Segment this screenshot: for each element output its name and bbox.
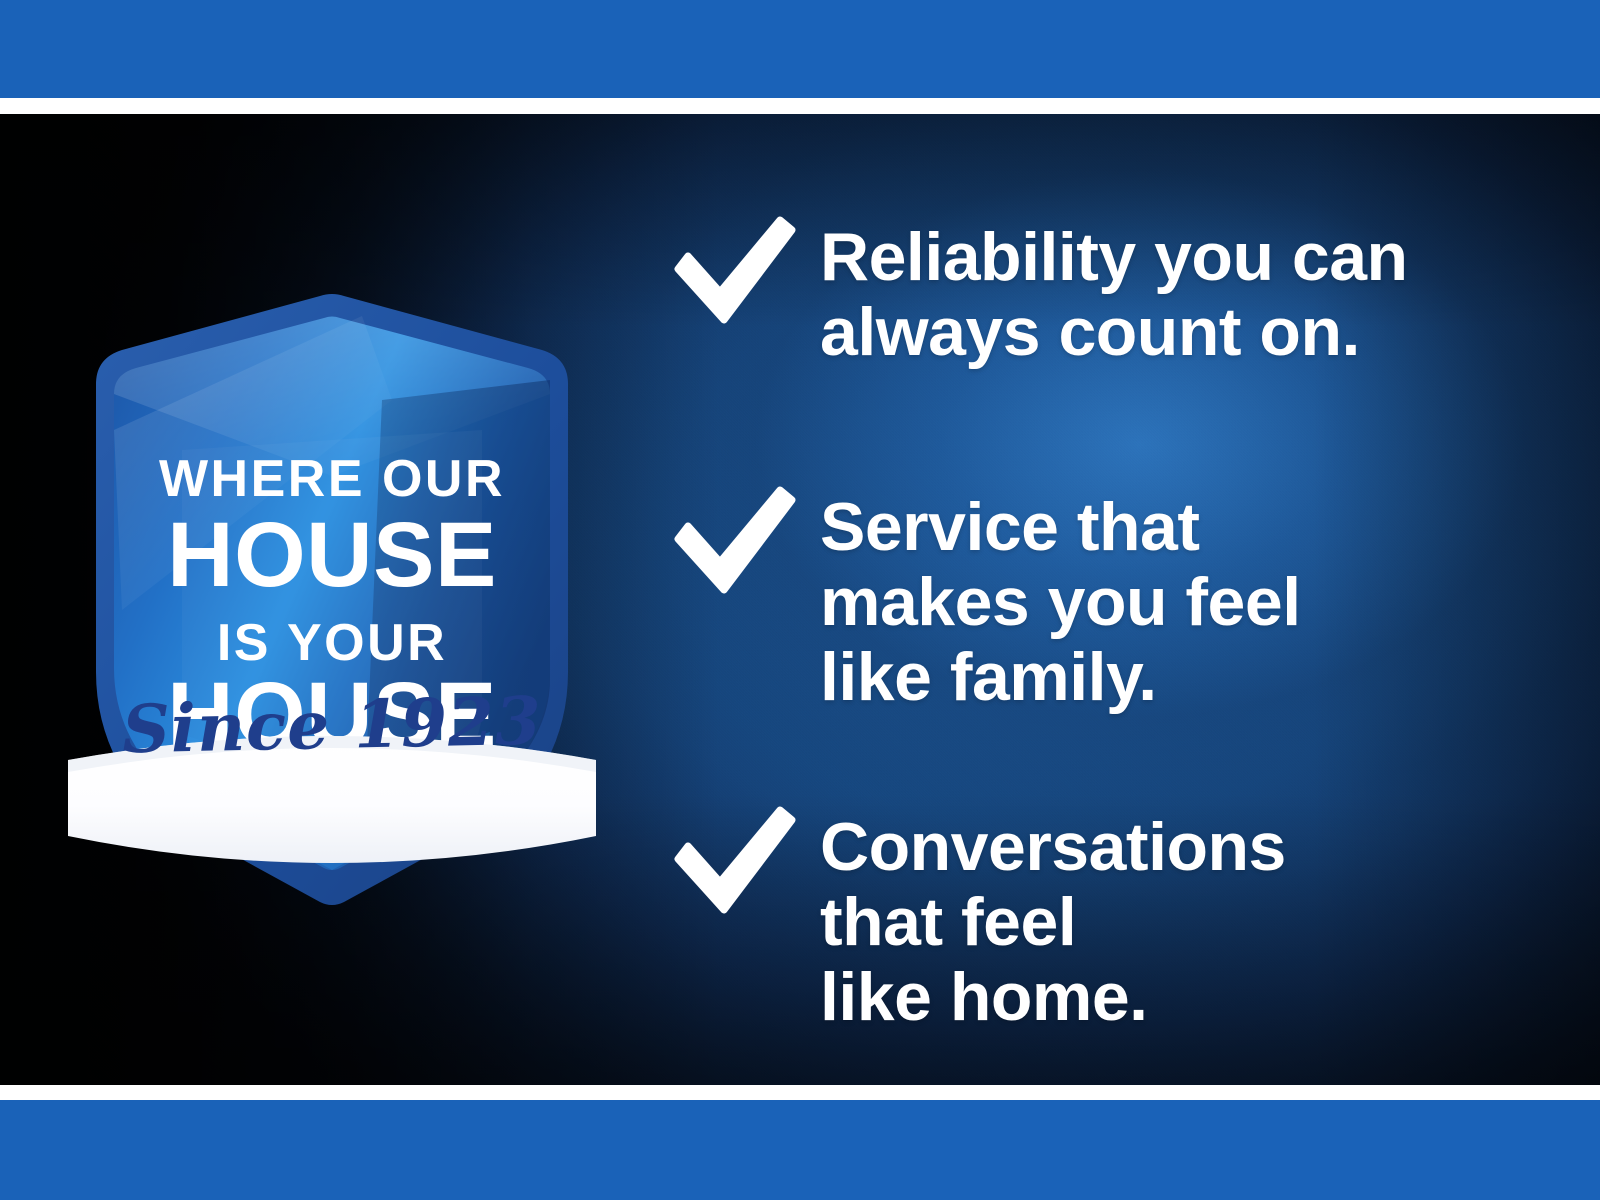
- promo-graphic: WHERE OUR HOUSE IS YOUR HOUSE Since 1923: [0, 0, 1600, 1200]
- ribbon-since-text: Since 1923: [61, 680, 603, 769]
- benefit-text: Reliability you can always count on.: [820, 214, 1408, 370]
- shield-headline-line-0: WHERE OUR: [159, 450, 505, 508]
- top-brand-bar: [0, 0, 1600, 98]
- shield-headline-line-1: HOUSE: [167, 504, 497, 606]
- benefit-item: Conversations that feel like home.: [668, 804, 1286, 1034]
- main-panel: WHERE OUR HOUSE IS YOUR HOUSE Since 1923: [0, 114, 1600, 1085]
- checkmark-icon: [668, 214, 798, 334]
- shield-badge: WHERE OUR HOUSE IS YOUR HOUSE Since 1923: [62, 280, 602, 920]
- benefit-text: Service that makes you feel like family.: [820, 484, 1301, 714]
- checkmark-icon: [668, 804, 798, 924]
- bottom-brand-bar: [0, 1100, 1600, 1200]
- benefit-item: Service that makes you feel like family.: [668, 484, 1301, 714]
- benefit-item: Reliability you can always count on.: [668, 214, 1408, 370]
- checkmark-icon: [668, 484, 798, 604]
- benefit-text: Conversations that feel like home.: [820, 804, 1286, 1034]
